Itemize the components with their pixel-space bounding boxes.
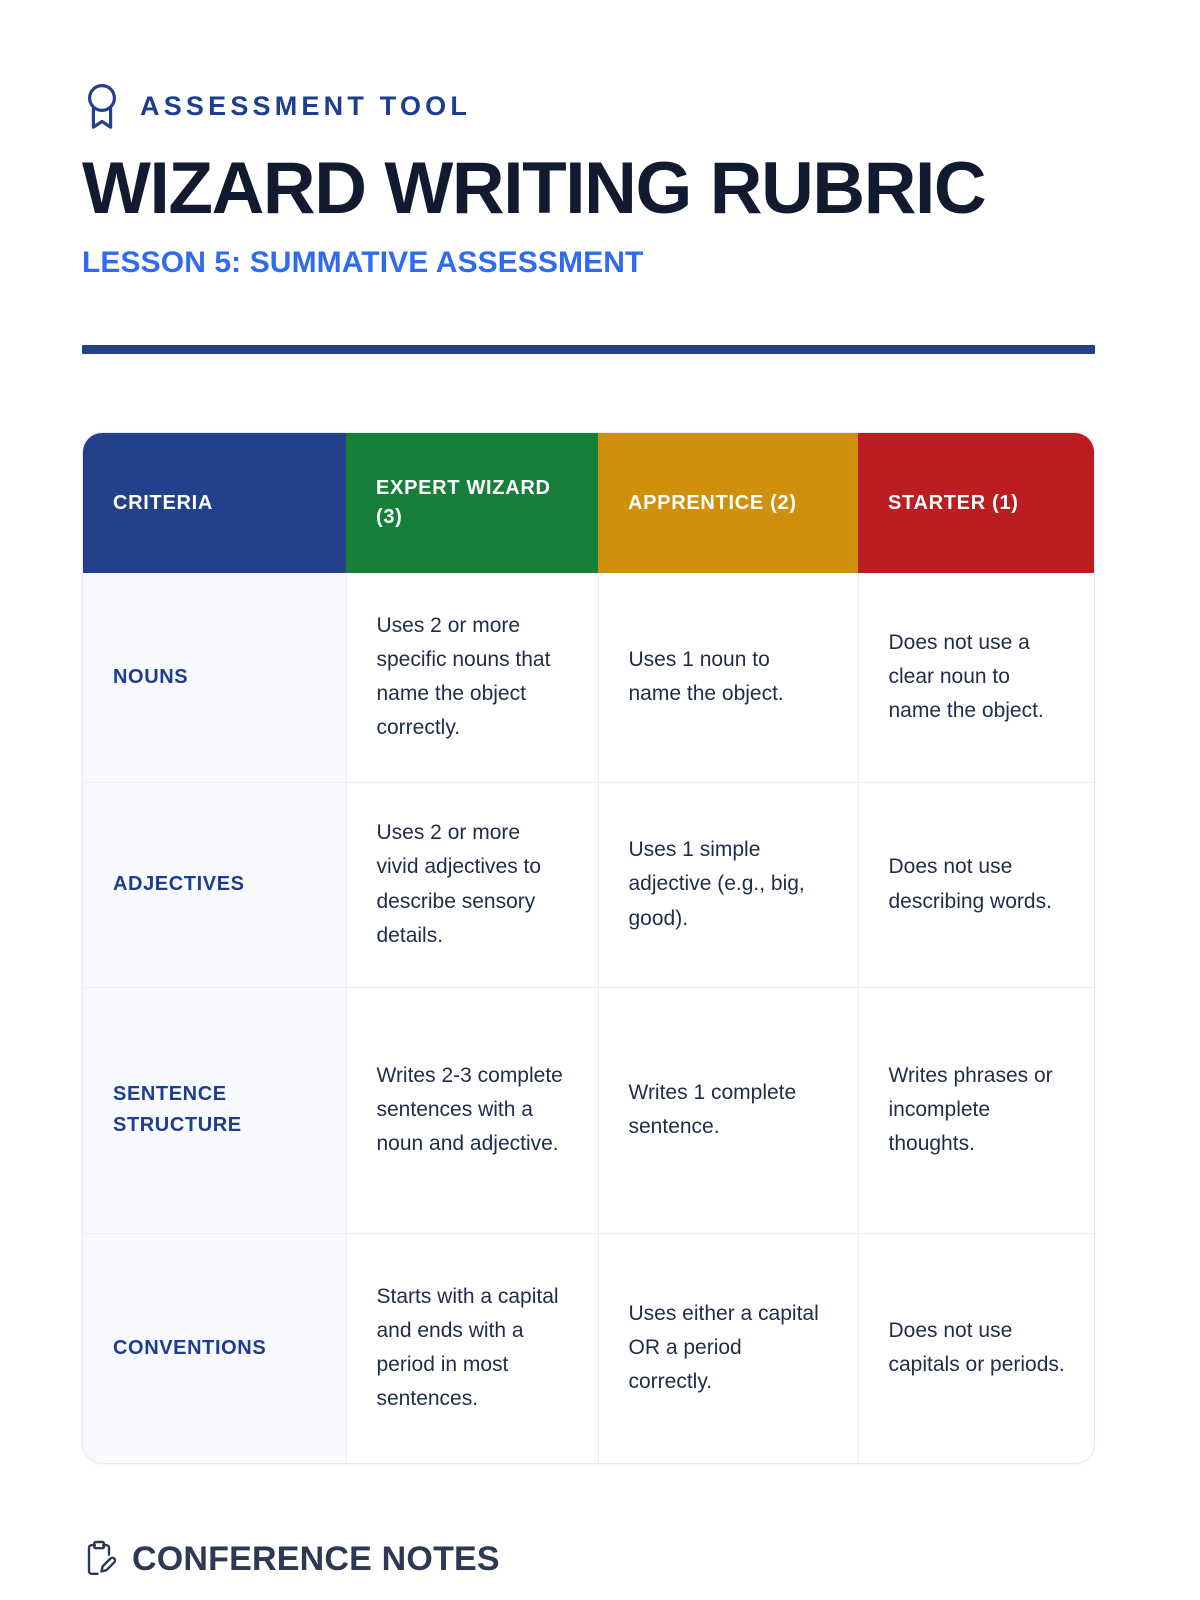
eyebrow-row: ASSESSMENT TOOL	[82, 78, 1118, 134]
rubric-table: CRITERIA EXPERT WIZARD (3) APPRENTICE (2…	[82, 432, 1095, 1464]
table-header-row: CRITERIA EXPERT WIZARD (3) APPRENTICE (2…	[83, 433, 1095, 573]
header-divider	[82, 345, 1095, 354]
page-subtitle: LESSON 5: SUMMATIVE ASSESSMENT	[82, 246, 1118, 279]
column-header-criteria: CRITERIA	[83, 433, 346, 573]
cell-starter: Writes phrases or incomplete thoughts.	[858, 987, 1095, 1233]
column-header-expert-wizard: EXPERT WIZARD (3)	[346, 433, 598, 573]
table-row: ADJECTIVES Uses 2 or more vivid adjectiv…	[83, 782, 1095, 987]
cell-apprentice: Uses 1 simple adjective (e.g., big, good…	[598, 782, 858, 987]
conference-notes-title: CONFERENCE NOTES	[132, 1542, 500, 1576]
cell-starter: Does not use capitals or periods.	[858, 1233, 1095, 1463]
cell-apprentice: Writes 1 complete sentence.	[598, 987, 858, 1233]
page-header: ASSESSMENT TOOL WIZARD WRITING RUBRIC LE…	[82, 78, 1118, 279]
cell-expert: Starts with a capital and ends with a pe…	[346, 1233, 598, 1463]
page-title: WIZARD WRITING RUBRIC	[82, 152, 1118, 226]
cell-expert: Writes 2-3 complete sentences with a nou…	[346, 987, 598, 1233]
clipboard-pencil-icon	[82, 1540, 116, 1578]
criteria-label: SENTENCE STRUCTURE	[83, 987, 346, 1233]
eyebrow-label: ASSESSMENT TOOL	[140, 93, 471, 120]
cell-starter: Does not use a clear noun to name the ob…	[858, 573, 1095, 782]
cell-expert: Uses 2 or more specific nouns that name …	[346, 573, 598, 782]
conference-notes-section: CONFERENCE NOTES	[82, 1540, 500, 1578]
column-header-apprentice: APPRENTICE (2)	[598, 433, 858, 573]
cell-apprentice: Uses either a capital OR a period correc…	[598, 1233, 858, 1463]
award-ribbon-icon	[82, 82, 122, 130]
cell-expert: Uses 2 or more vivid adjectives to descr…	[346, 782, 598, 987]
criteria-label: NOUNS	[83, 573, 346, 782]
cell-apprentice: Uses 1 noun to name the object.	[598, 573, 858, 782]
cell-starter: Does not use describing words.	[858, 782, 1095, 987]
table-row: CONVENTIONS Starts with a capital and en…	[83, 1233, 1095, 1463]
table-row: SENTENCE STRUCTURE Writes 2-3 complete s…	[83, 987, 1095, 1233]
column-header-starter: STARTER (1)	[858, 433, 1095, 573]
criteria-label: ADJECTIVES	[83, 782, 346, 987]
rubric-page: ASSESSMENT TOOL WIZARD WRITING RUBRIC LE…	[0, 0, 1200, 1600]
table-row: NOUNS Uses 2 or more specific nouns that…	[83, 573, 1095, 782]
criteria-label: CONVENTIONS	[83, 1233, 346, 1463]
